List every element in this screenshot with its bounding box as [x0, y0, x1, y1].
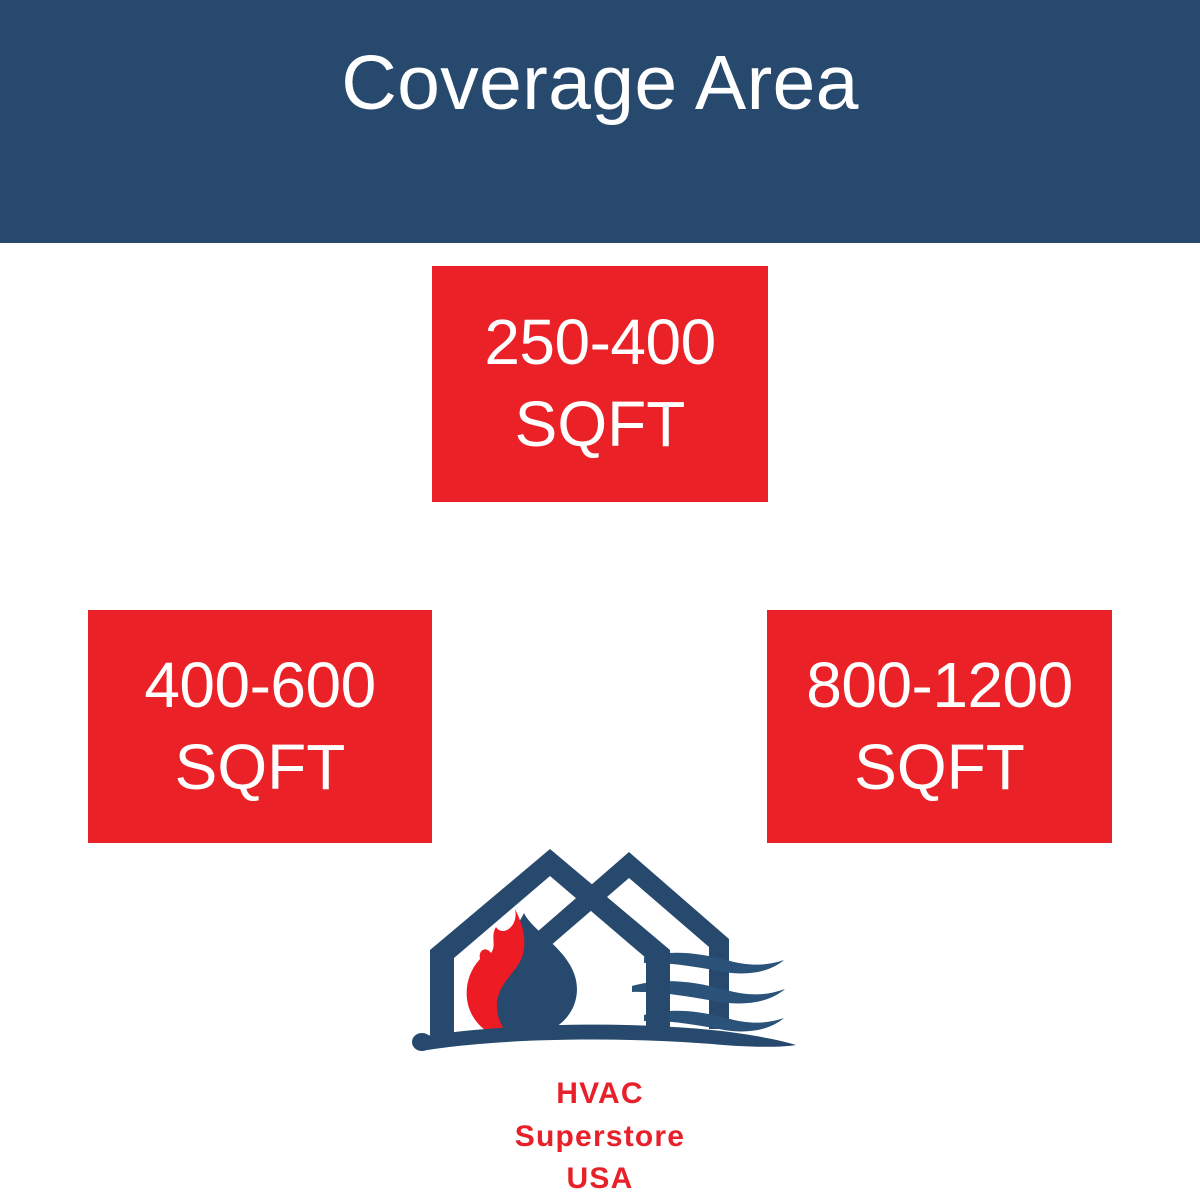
coverage-range-value: 400-600	[144, 652, 375, 720]
logo-wordmark-line-2: Superstore	[392, 1116, 808, 1159]
coverage-box-right: 800-1200 SQFT	[767, 610, 1112, 843]
brand-logo: HVAC Superstore USA	[392, 845, 808, 1195]
logo-mark	[392, 845, 808, 1070]
coverage-unit-label: SQFT	[854, 734, 1025, 802]
logo-wordmark-line-3: USA	[392, 1158, 808, 1200]
page-title: Coverage Area	[0, 0, 1200, 243]
logo-wordmark: HVAC Superstore USA	[392, 1073, 808, 1200]
logo-wordmark-line-1: HVAC	[392, 1073, 808, 1116]
coverage-unit-label: SQFT	[175, 734, 346, 802]
coverage-range-value: 250-400	[484, 309, 715, 377]
infographic-canvas: Coverage Area 250-400 SQFT 400-600 SQFT …	[0, 0, 1200, 1200]
coverage-range-value: 800-1200	[806, 652, 1072, 720]
coverage-box-left: 400-600 SQFT	[88, 610, 432, 843]
coverage-unit-label: SQFT	[515, 391, 686, 459]
coverage-box-top: 250-400 SQFT	[432, 266, 768, 502]
